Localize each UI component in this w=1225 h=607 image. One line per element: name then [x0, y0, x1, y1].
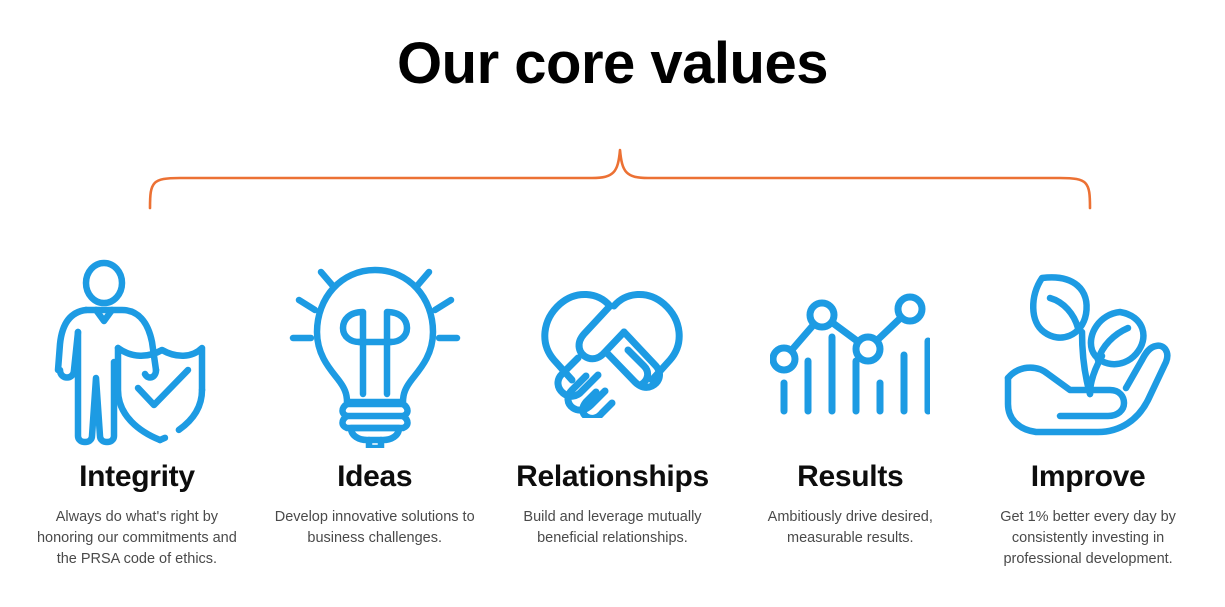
handshake-heart-icon [517, 258, 707, 448]
person-with-shield-check-icon [42, 258, 232, 448]
value-title: Relationships [516, 460, 709, 493]
value-card-ideas: Ideas Develop innovative solutions to bu… [256, 258, 494, 549]
value-description: Always do what's right by honoring our c… [37, 507, 237, 570]
value-description: Build and leverage mutually beneficial r… [512, 507, 712, 549]
orange-curly-brace [140, 148, 1100, 210]
value-card-integrity: Integrity Always do what's right by hono… [18, 258, 256, 570]
value-title: Improve [1031, 460, 1146, 493]
value-description: Get 1% better every day by consistently … [993, 507, 1183, 570]
values-row: Integrity Always do what's right by hono… [0, 258, 1225, 570]
value-card-improve: Improve Get 1% better every day by consi… [969, 258, 1207, 570]
core-values-infographic: Our core values [0, 0, 1225, 607]
value-description: Develop innovative solutions to business… [270, 507, 480, 549]
line-chart-bars-icon [755, 258, 945, 448]
value-description: Ambitiously drive desired, measurable re… [758, 507, 943, 549]
lightbulb-icon [280, 258, 470, 448]
value-card-relationships: Relationships Build and leverage mutuall… [494, 258, 732, 549]
value-card-results: Results Ambitiously drive desired, measu… [731, 258, 969, 549]
value-title: Integrity [79, 460, 195, 493]
hand-with-sprout-icon [993, 258, 1183, 448]
page-title: Our core values [0, 34, 1225, 95]
value-title: Ideas [337, 460, 412, 493]
value-title: Results [797, 460, 903, 493]
